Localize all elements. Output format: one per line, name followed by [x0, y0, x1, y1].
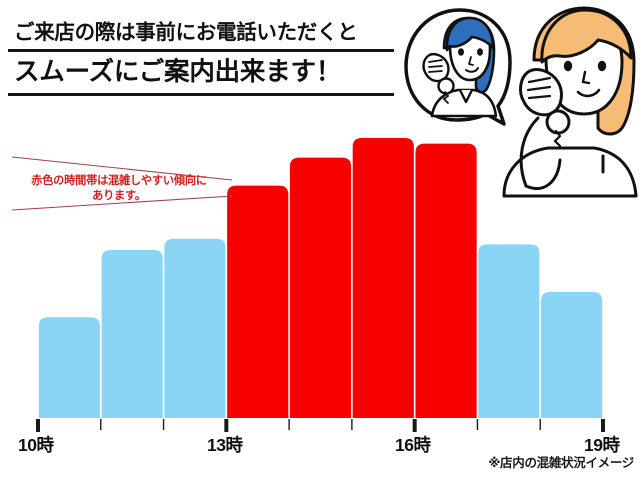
axis-label-13: 13時	[207, 432, 242, 457]
bar	[102, 250, 163, 418]
headline-line-1: ご来店の際は事前にお電話いただくと	[8, 20, 394, 46]
headline-rule-bottom	[8, 93, 394, 96]
speech-bubble-icon	[406, 10, 510, 124]
footnote-text: ※店内の混雑状況イメージ	[488, 452, 634, 471]
chart-axis	[38, 419, 603, 432]
illustration-svg	[398, 0, 640, 202]
headline-rule-top	[8, 49, 394, 52]
annotation-text-line-1: 赤色の時間帯は混雑しやすい傾向に	[10, 174, 228, 189]
poster-root: ご来店の際は事前にお電話いただくと スムーズにご案内出来ます！ 10時 13時 …	[0, 0, 640, 480]
headline-block: ご来店の際は事前にお電話いただくと スムーズにご案内出来ます！	[8, 20, 394, 96]
bar	[227, 186, 288, 418]
axis-label-10: 10時	[18, 432, 53, 457]
red-annotation: 赤色の時間帯は混雑しやすい傾向に あります。	[10, 152, 235, 214]
customer-figure-icon	[504, 8, 636, 196]
bar	[541, 292, 602, 418]
annotation-text: 赤色の時間帯は混雑しやすい傾向に あります。	[10, 174, 228, 204]
annotation-text-line-2: あります。	[10, 189, 228, 204]
headline-line-2: スムーズにご案内出来ます！	[8, 54, 394, 90]
bar	[39, 317, 100, 418]
bar	[164, 239, 225, 418]
axis-label-16: 16時	[395, 432, 430, 457]
bar	[478, 244, 539, 418]
bar	[290, 158, 351, 418]
phone-call-illustration	[398, 0, 640, 202]
